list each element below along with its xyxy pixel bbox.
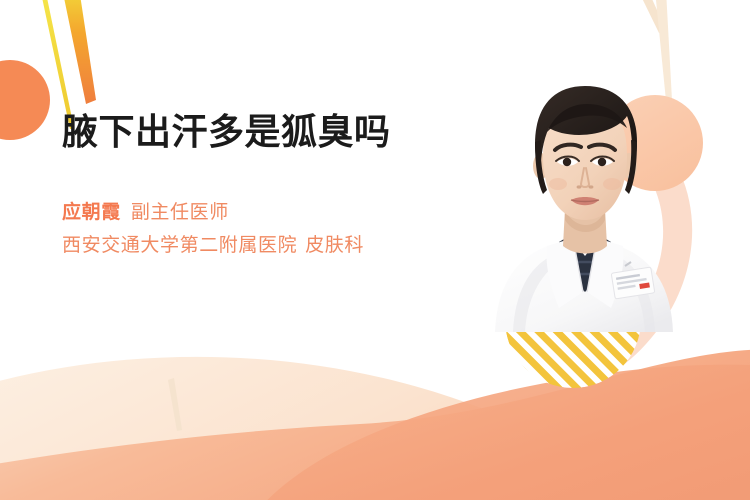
department-name: 皮肤科 (305, 235, 364, 256)
top-right-stripes (638, 0, 672, 101)
byline: 应朝霞副主任医师 西安交通大学第二附属医院皮肤科 (62, 198, 442, 262)
hospital-name: 西安交通大学第二附属医院 (62, 235, 297, 256)
stripe-orange-thick (62, 0, 96, 104)
doctor-title: 副主任医师 (131, 202, 229, 223)
page-title: 腋下出汗多是狐臭吗 (62, 110, 442, 154)
left-orange-circle (0, 60, 50, 140)
stripe-cream-b (655, 0, 672, 101)
striped-circle (505, 252, 641, 388)
doctor-name: 应朝霞 (62, 202, 121, 223)
doctor-credit-line: 应朝霞副主任医师 (62, 198, 442, 229)
text-block: 腋下出汗多是狐臭吗 应朝霞副主任医师 西安交通大学第二附属医院皮肤科 (62, 110, 442, 261)
doctor-intro-card: 腋下出汗多是狐臭吗 应朝霞副主任医师 西安交通大学第二附属医院皮肤科 (0, 0, 750, 500)
hospital-credit-line: 西安交通大学第二附属医院皮肤科 (62, 231, 442, 262)
peach-circle (607, 95, 703, 191)
